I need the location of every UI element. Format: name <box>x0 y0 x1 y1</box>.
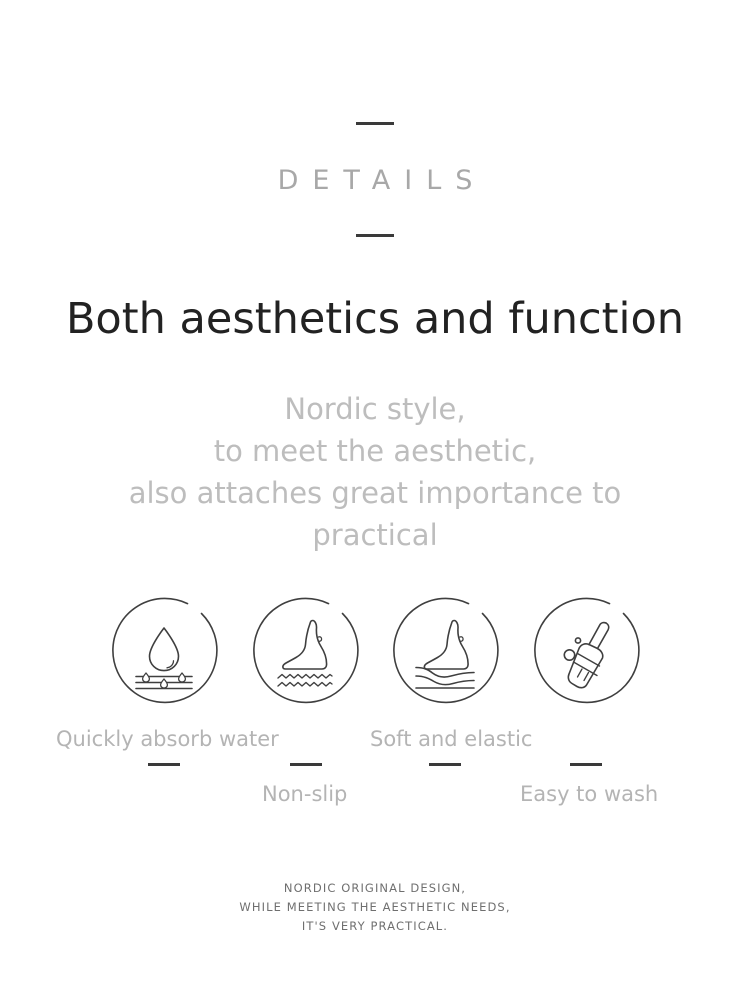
circle-ring <box>254 598 358 702</box>
feature-label-non-slip: Non-slip <box>262 784 347 805</box>
subcopy-line-4: practical <box>0 514 750 556</box>
feature-dash-1 <box>148 763 180 766</box>
details-header-block: DETAILS <box>0 122 750 237</box>
top-divider-dash <box>356 122 394 125</box>
subcopy-line-2: to meet the aesthetic, <box>0 430 750 472</box>
footer-line-1: NORDIC ORIGINAL DESIGN, <box>0 879 750 898</box>
eyebrow-title: DETAILS <box>0 167 750 194</box>
footer-line-3: IT'S VERY PRACTICAL. <box>0 917 750 936</box>
feature-item-easy-to-wash <box>527 592 645 710</box>
foot-shape <box>424 621 468 670</box>
circle-ring <box>535 598 639 702</box>
droplet-shape <box>150 628 179 671</box>
feature-dash-4 <box>570 763 602 766</box>
subcopy-line-1: Nordic style, <box>0 388 750 430</box>
feature-dash-3 <box>429 763 461 766</box>
footer-line-2: WHILE MEETING THE AESTHETIC NEEDS, <box>0 898 750 917</box>
foot-shape <box>283 621 327 670</box>
feature-dash-2 <box>290 763 322 766</box>
bristle-1 <box>584 673 589 681</box>
absorbed-droplet-3 <box>179 673 186 682</box>
bottom-divider-dash <box>356 234 394 237</box>
brush-handle-edge <box>589 623 606 645</box>
page-title: Both aesthetics and function <box>0 296 750 343</box>
feature-label-soft-elastic: Soft and elastic <box>370 729 532 750</box>
footer-tagline: NORDIC ORIGINAL DESIGN, WHILE MEETING TH… <box>0 879 750 936</box>
product-detail-page: DETAILS Both aesthetics and function Nor… <box>0 0 750 998</box>
brush-band-2 <box>574 662 598 676</box>
brush-head <box>568 644 602 688</box>
dust-particle-small <box>575 638 580 643</box>
feature-icon-row <box>0 592 750 714</box>
absorbed-droplet-1 <box>143 673 150 682</box>
absorbed-droplet-2 <box>161 679 168 688</box>
dust-particle-large <box>564 650 574 660</box>
bristle-2 <box>578 669 583 677</box>
feature-label-absorb-water: Quickly absorb water <box>56 729 279 750</box>
subcopy-line-3: also attaches great importance to <box>0 472 750 514</box>
subcopy-block: Nordic style, to meet the aesthetic, als… <box>0 388 750 556</box>
feature-label-easy-to-wash: Easy to wash <box>520 784 658 805</box>
droplet-highlight <box>167 661 174 668</box>
grip-wave-1 <box>278 675 332 679</box>
feature-item-soft-elastic <box>386 592 504 710</box>
grip-wave-2 <box>278 683 332 687</box>
feature-item-absorb-water <box>105 592 223 710</box>
brush-band-1 <box>578 654 600 667</box>
feature-item-non-slip <box>246 592 364 710</box>
